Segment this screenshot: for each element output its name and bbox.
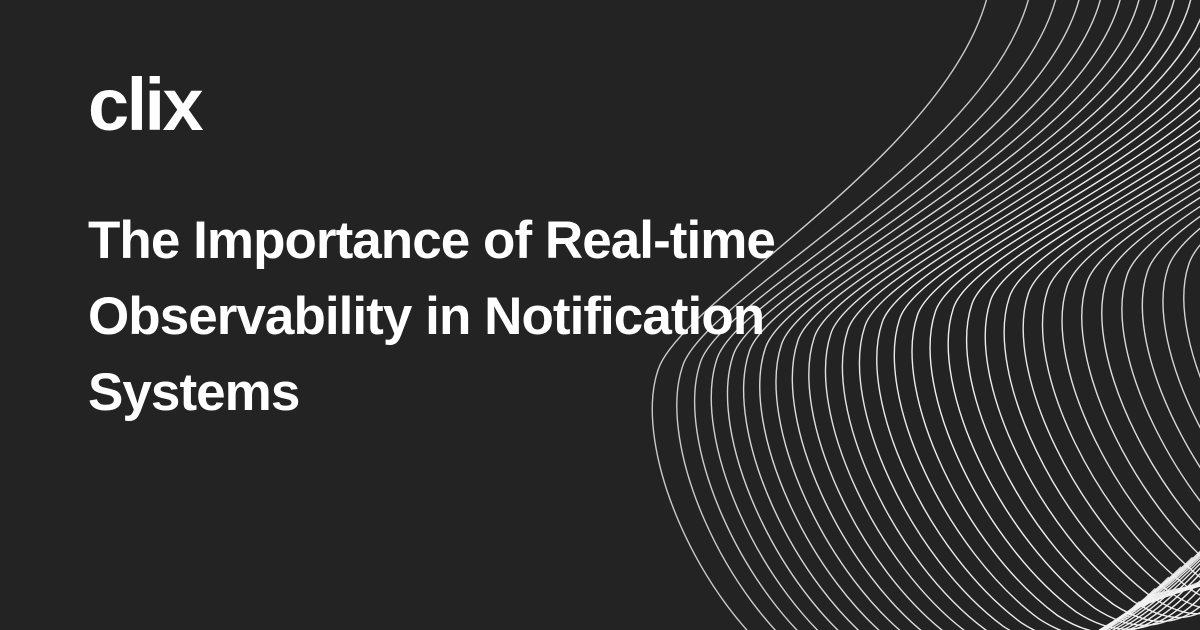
wave-line <box>1023 0 1200 610</box>
wave-line <box>1132 0 1200 612</box>
wave-line <box>930 0 1200 629</box>
wave-line <box>842 0 1200 630</box>
wave-line <box>1102 0 1200 595</box>
wave-line <box>1130 0 1200 613</box>
wave-line <box>1145 0 1200 601</box>
wave-line <box>1082 0 1200 598</box>
wave-line <box>859 0 1200 630</box>
brand-logo: clix <box>88 68 201 142</box>
wave-line <box>1126 0 1200 617</box>
wave-line <box>985 0 1200 618</box>
og-card: clix The Importance of Real-time Observa… <box>0 0 1200 630</box>
wave-line <box>1122 0 1200 591</box>
wave-line <box>1147 0 1200 600</box>
wave-line <box>894 0 1200 630</box>
wave-line <box>1143 0 1200 603</box>
wave-line <box>1149 0 1200 598</box>
wave-line <box>1124 0 1200 618</box>
wave-line <box>1134 0 1200 610</box>
wave-line <box>1004 0 1200 614</box>
wave-line <box>948 0 1200 625</box>
wave-line <box>1142 0 1200 587</box>
wave-line <box>1043 0 1200 606</box>
wave-line <box>826 0 1200 630</box>
page-title: The Importance of Real-time Observabilit… <box>88 203 833 431</box>
wave-line <box>912 0 1200 630</box>
card-content: clix The Importance of Real-time Observa… <box>88 0 868 630</box>
wave-line <box>1163 0 1200 583</box>
wave-line <box>1062 0 1200 602</box>
wave-line <box>967 0 1200 621</box>
wave-line <box>1136 0 1200 608</box>
wave-line <box>1128 0 1200 615</box>
wave-line <box>1184 0 1200 579</box>
wave-line <box>1122 0 1200 620</box>
wave-line <box>1138 0 1200 607</box>
wave-line <box>1140 0 1200 605</box>
wave-line <box>877 0 1200 630</box>
